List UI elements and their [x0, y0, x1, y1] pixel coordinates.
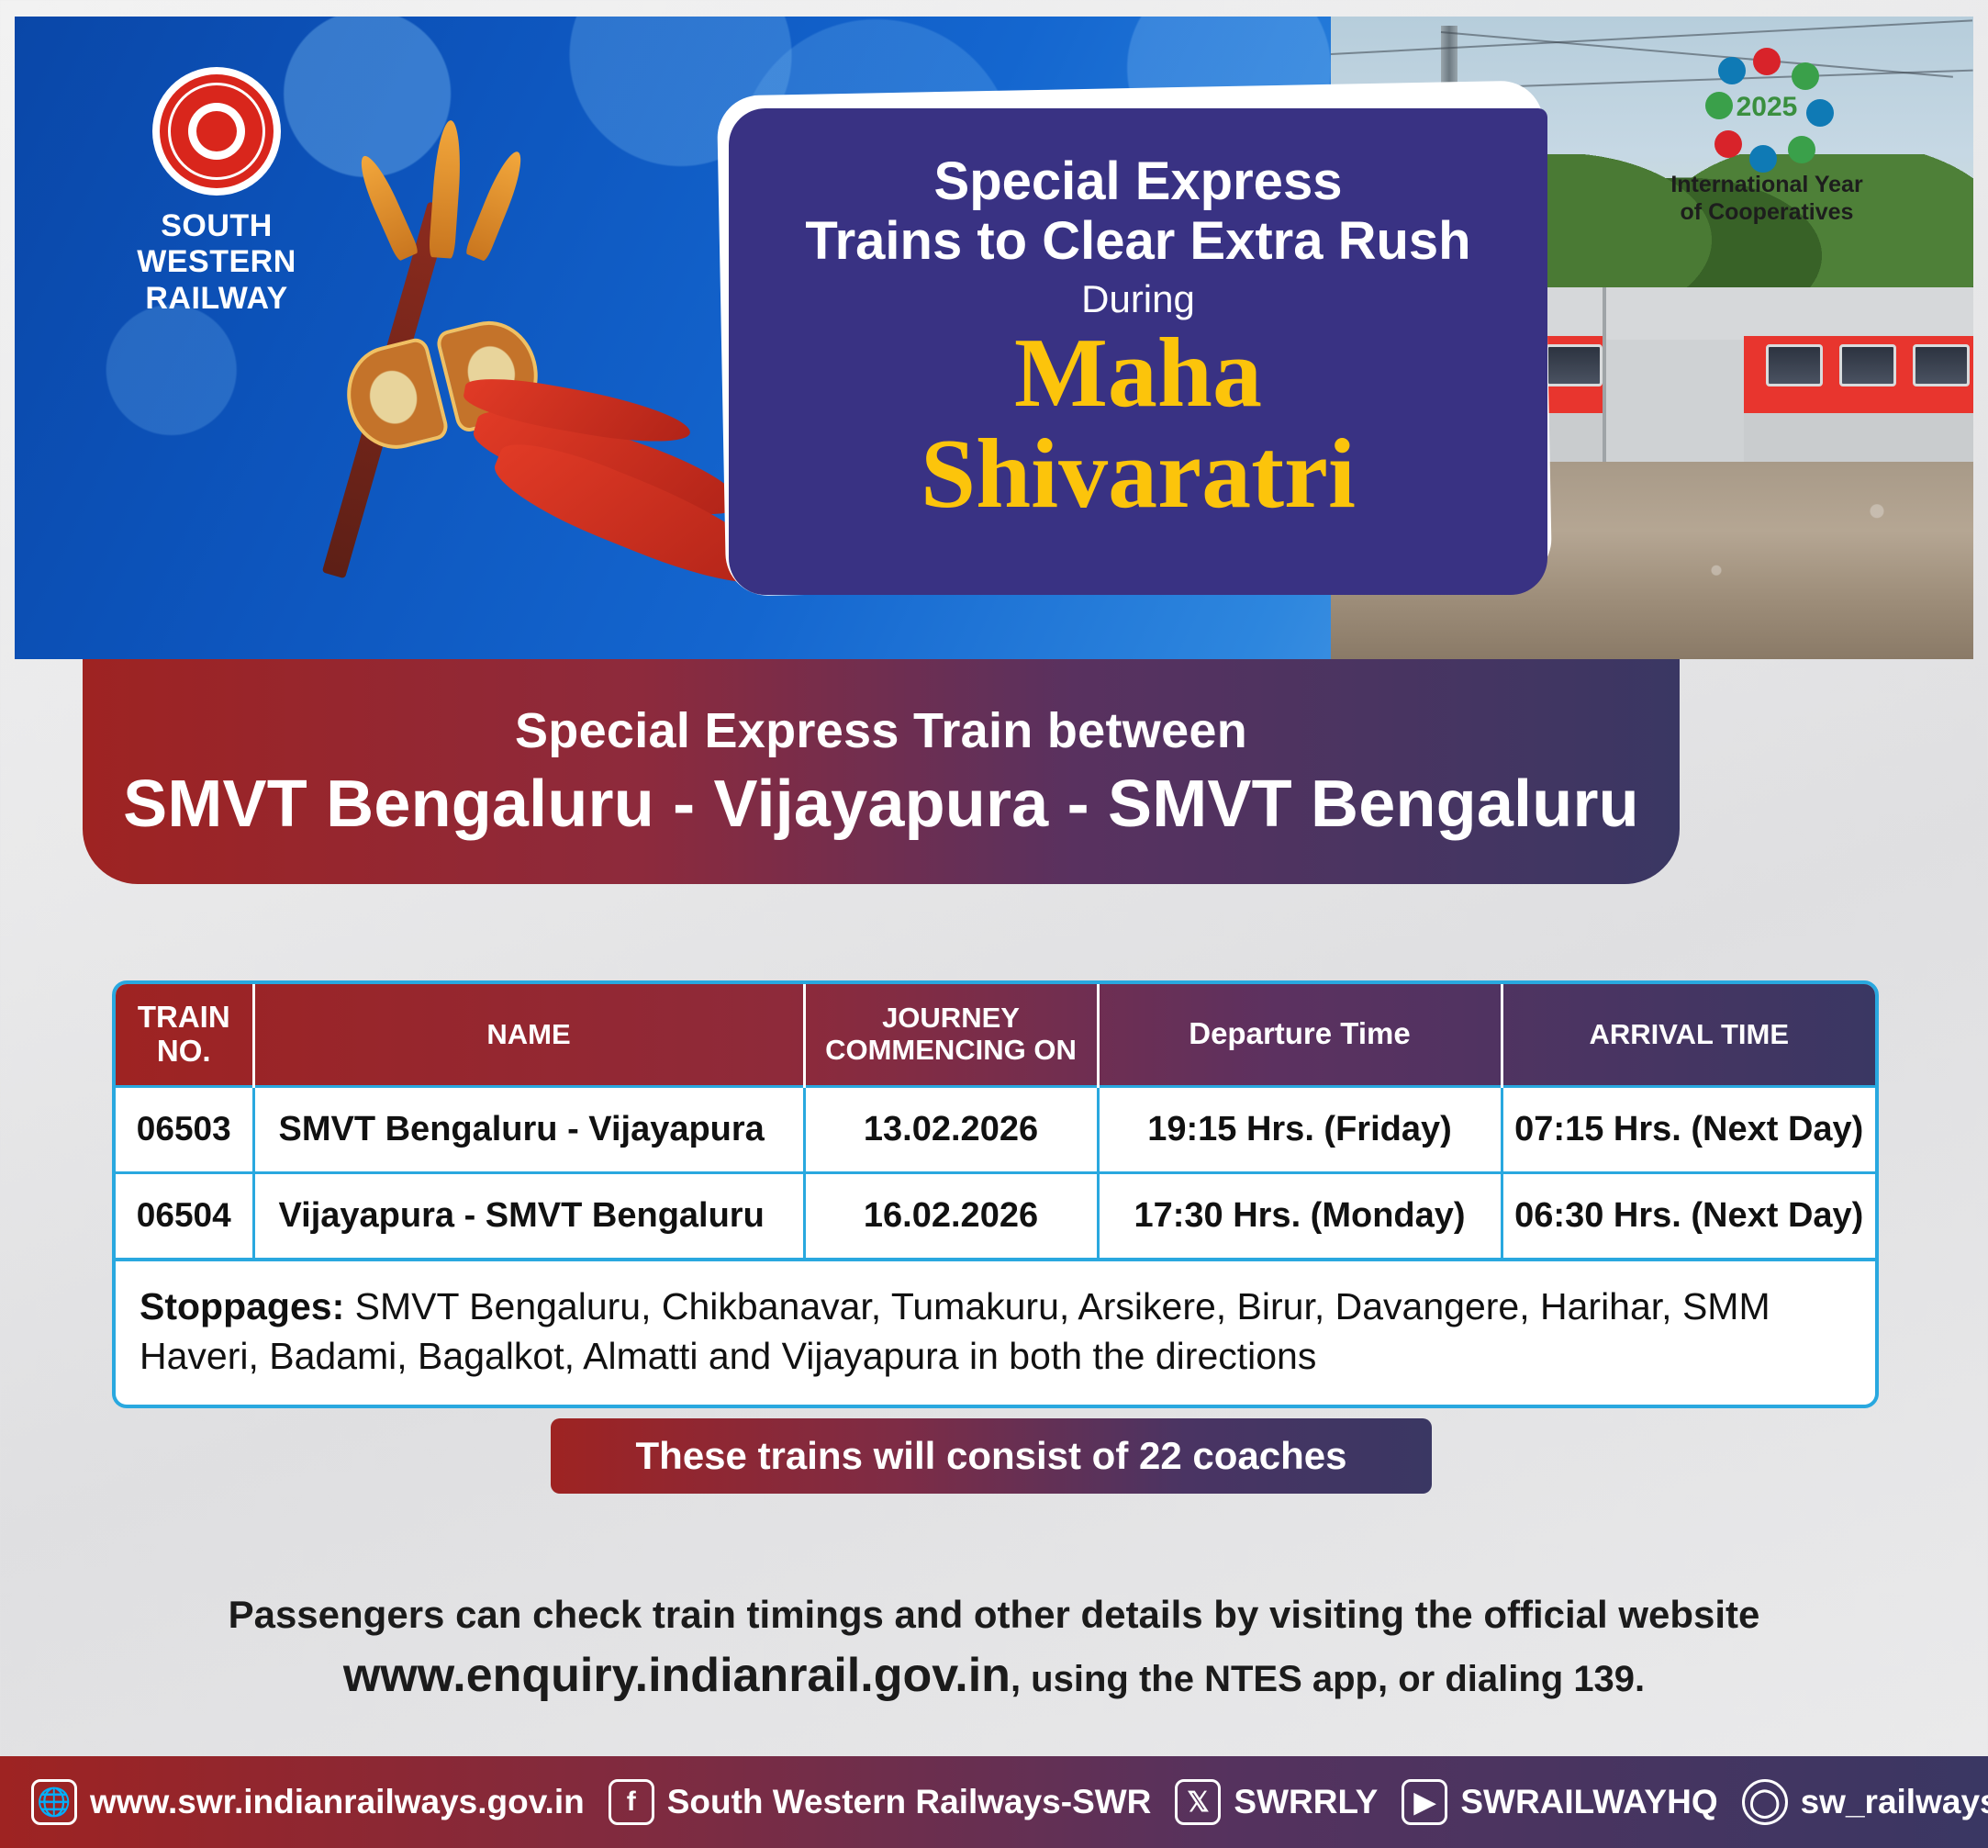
cooperatives-label: International Year of Cooperatives — [1661, 171, 1872, 226]
cell-train-no: 06504 — [116, 1172, 253, 1258]
globe-icon: 🌐 — [31, 1779, 77, 1825]
footer-instagram-label: sw_railways — [1801, 1783, 1988, 1821]
trishul-damaru-illustration — [290, 67, 731, 655]
passenger-info-note: Passengers can check train timings and o… — [0, 1593, 1988, 1703]
trishul-prong — [429, 119, 463, 259]
enquiry-website-url[interactable]: www.enquiry.indianrail.gov.in — [343, 1649, 1011, 1702]
festival-name-line-1: Maha — [1014, 325, 1262, 422]
stoppages-label: Stoppages: — [140, 1285, 344, 1327]
cooperatives-ring-icon: 2025 — [1707, 48, 1826, 167]
footer-twitter-label: SWRRLY — [1234, 1783, 1378, 1821]
cell-journey: 16.02.2026 — [804, 1172, 1098, 1258]
footer-facebook[interactable]: f South Western Railways-SWR — [609, 1779, 1152, 1825]
header-journey-commencing: JOURNEY COMMENCING ON — [804, 984, 1098, 1086]
table-row: 06504 Vijayapura - SMVT Bengaluru 16.02.… — [116, 1172, 1875, 1258]
youtube-icon: ▶ — [1402, 1779, 1447, 1825]
trishul-prong — [353, 151, 420, 262]
passenger-note-line-1: Passengers can check train timings and o… — [0, 1593, 1988, 1637]
trishul-prong — [464, 148, 530, 263]
cell-name: Vijayapura - SMVT Bengaluru — [253, 1172, 804, 1258]
cell-departure: 19:15 Hrs. (Friday) — [1098, 1086, 1502, 1172]
footer-twitter[interactable]: 𝕏 SWRRLY — [1175, 1779, 1378, 1825]
instagram-icon: ◯ — [1742, 1779, 1788, 1825]
footer-instagram[interactable]: ◯ sw_railways — [1742, 1779, 1988, 1825]
table-row: 06503 SMVT Bengaluru - Vijayapura 13.02.… — [116, 1086, 1875, 1172]
cell-journey: 13.02.2026 — [804, 1086, 1098, 1172]
hero-section: SOUTH WESTERN RAILWAY 2025 International… — [15, 17, 1973, 659]
train-coach — [1744, 287, 1973, 462]
card-during-label: During — [1081, 277, 1195, 321]
footer-website[interactable]: 🌐 www.swr.indianrailways.gov.in — [31, 1779, 585, 1825]
header-name: NAME — [253, 984, 804, 1086]
train-schedule-table: TRAIN NO. NAME JOURNEY COMMENCING ON Dep… — [112, 980, 1879, 1408]
facebook-icon: f — [609, 1779, 654, 1825]
international-year-of-cooperatives-logo: 2025 International Year of Cooperatives — [1661, 48, 1872, 226]
stoppages-row: Stoppages: SMVT Bengaluru, Chikbanavar, … — [116, 1258, 1875, 1405]
route-banner-title: SMVT Bengaluru - Vijayapura - SMVT Benga… — [123, 767, 1639, 842]
passenger-note-line-2-rest: , using the NTES app, or dialing 139. — [1011, 1659, 1645, 1699]
festival-announcement-card: Special Express Trains to Clear Extra Ru… — [729, 108, 1547, 595]
card-headline-2: Trains to Clear Extra Rush — [805, 212, 1470, 272]
indian-railways-seal-icon — [152, 67, 281, 196]
table-header-row: TRAIN NO. NAME JOURNEY COMMENCING ON Dep… — [116, 984, 1875, 1086]
footer-youtube-label: SWRAILWAYHQ — [1460, 1783, 1717, 1821]
footer-youtube[interactable]: ▶ SWRAILWAYHQ — [1402, 1779, 1717, 1825]
festival-name-line-2: Shivaratri — [921, 426, 1356, 523]
cooperatives-year: 2025 — [1737, 92, 1798, 123]
cell-arrival: 07:15 Hrs. (Next Day) — [1502, 1086, 1875, 1172]
x-twitter-icon: 𝕏 — [1175, 1779, 1221, 1825]
footer-social-bar: 🌐 www.swr.indianrailways.gov.in f South … — [0, 1756, 1988, 1848]
coach-vestibule — [1606, 287, 1744, 462]
card-headline-1: Special Express — [934, 152, 1343, 212]
cell-arrival: 06:30 Hrs. (Next Day) — [1502, 1172, 1875, 1258]
route-banner: Special Express Train between SMVT Benga… — [83, 659, 1680, 884]
route-banner-subtitle: Special Express Train between — [515, 702, 1247, 759]
cell-train-no: 06503 — [116, 1086, 253, 1172]
cell-departure: 17:30 Hrs. (Monday) — [1098, 1172, 1502, 1258]
footer-website-label: www.swr.indianrailways.gov.in — [90, 1783, 585, 1821]
coaches-note-banner: These trains will consist of 22 coaches — [551, 1418, 1432, 1494]
header-departure-time: Departure Time — [1098, 984, 1502, 1086]
header-arrival-time: ARRIVAL TIME — [1502, 984, 1875, 1086]
stoppages-text: SMVT Bengaluru, Chikbanavar, Tumakuru, A… — [140, 1285, 1770, 1377]
header-train-no: TRAIN NO. — [116, 984, 253, 1086]
footer-facebook-label: South Western Railways-SWR — [667, 1783, 1152, 1821]
cell-name: SMVT Bengaluru - Vijayapura — [253, 1086, 804, 1172]
